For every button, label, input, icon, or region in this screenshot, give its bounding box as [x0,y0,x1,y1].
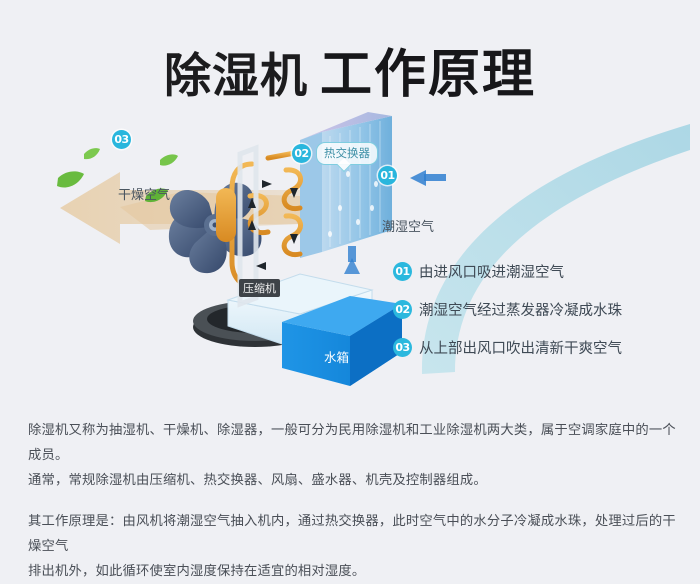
infographic-page: 除湿机工作原理 [0,0,700,566]
badge-humid-air: 01 [378,166,397,185]
paragraph-2-line-2: 排出机外，如此循环使室内湿度保持在适宜的相对湿度。 [28,559,678,584]
legend-item: 01 由进风口吸进潮湿空气 [393,252,693,290]
legend-badge-01: 01 [393,262,412,281]
label-dry-air: 干燥空气 [118,184,170,203]
title-part-2: 工作原理 [320,45,536,105]
paragraph-1-line-2: 通常，常规除湿机由压缩机、热交换器、风扇、盛水器、机壳及控制器组成。 [28,468,678,493]
page-title: 除湿机工作原理 [0,32,700,107]
paragraph-spacer [28,493,678,509]
legend-text-01: 由进风口吸进潮湿空气 [419,261,564,282]
paragraph-2-line-1: 其工作原理是：由风机将潮湿空气抽入机内，通过热交换器，此时空气中的水分子冷凝成水… [28,509,678,559]
callout-heat-exchanger: 热交换器 [316,142,378,165]
legend-badge-03: 03 [393,338,412,357]
compressor-cylinder [216,188,236,242]
legend-item: 02 潮湿空气经过蒸发器冷凝成水珠 [393,290,693,328]
legend-list: 01 由进风口吸进潮湿空气 02 潮湿空气经过蒸发器冷凝成水珠 03 从上部出风… [393,252,693,366]
tag-water-tank: 水箱 [324,347,349,366]
badge-dry-air: 03 [112,130,131,149]
legend-item: 03 从上部出风口吹出清新干爽空气 [393,328,693,366]
legend-text-02: 潮湿空气经过蒸发器冷凝成水珠 [419,299,622,320]
evaporator-coil [300,112,392,258]
label-humid-air: 潮湿空气 [382,216,434,235]
title-part-1: 除湿机 [164,49,308,104]
legend-text-03: 从上部出风口吹出清新干爽空气 [419,337,622,358]
paragraph-1-line-1: 除湿机又称为抽湿机、干燥机、除湿器，一般可分为民用除湿机和工业除湿机两大类，属于… [28,418,678,468]
tag-compressor: 压缩机 [239,279,280,297]
badge-heat-exchanger: 02 [292,144,311,163]
legend-badge-02: 02 [393,300,412,319]
body-copy: 除湿机又称为抽湿机、干燥机、除湿器，一般可分为民用除湿机和工业除湿机两大类，属于… [28,418,678,584]
